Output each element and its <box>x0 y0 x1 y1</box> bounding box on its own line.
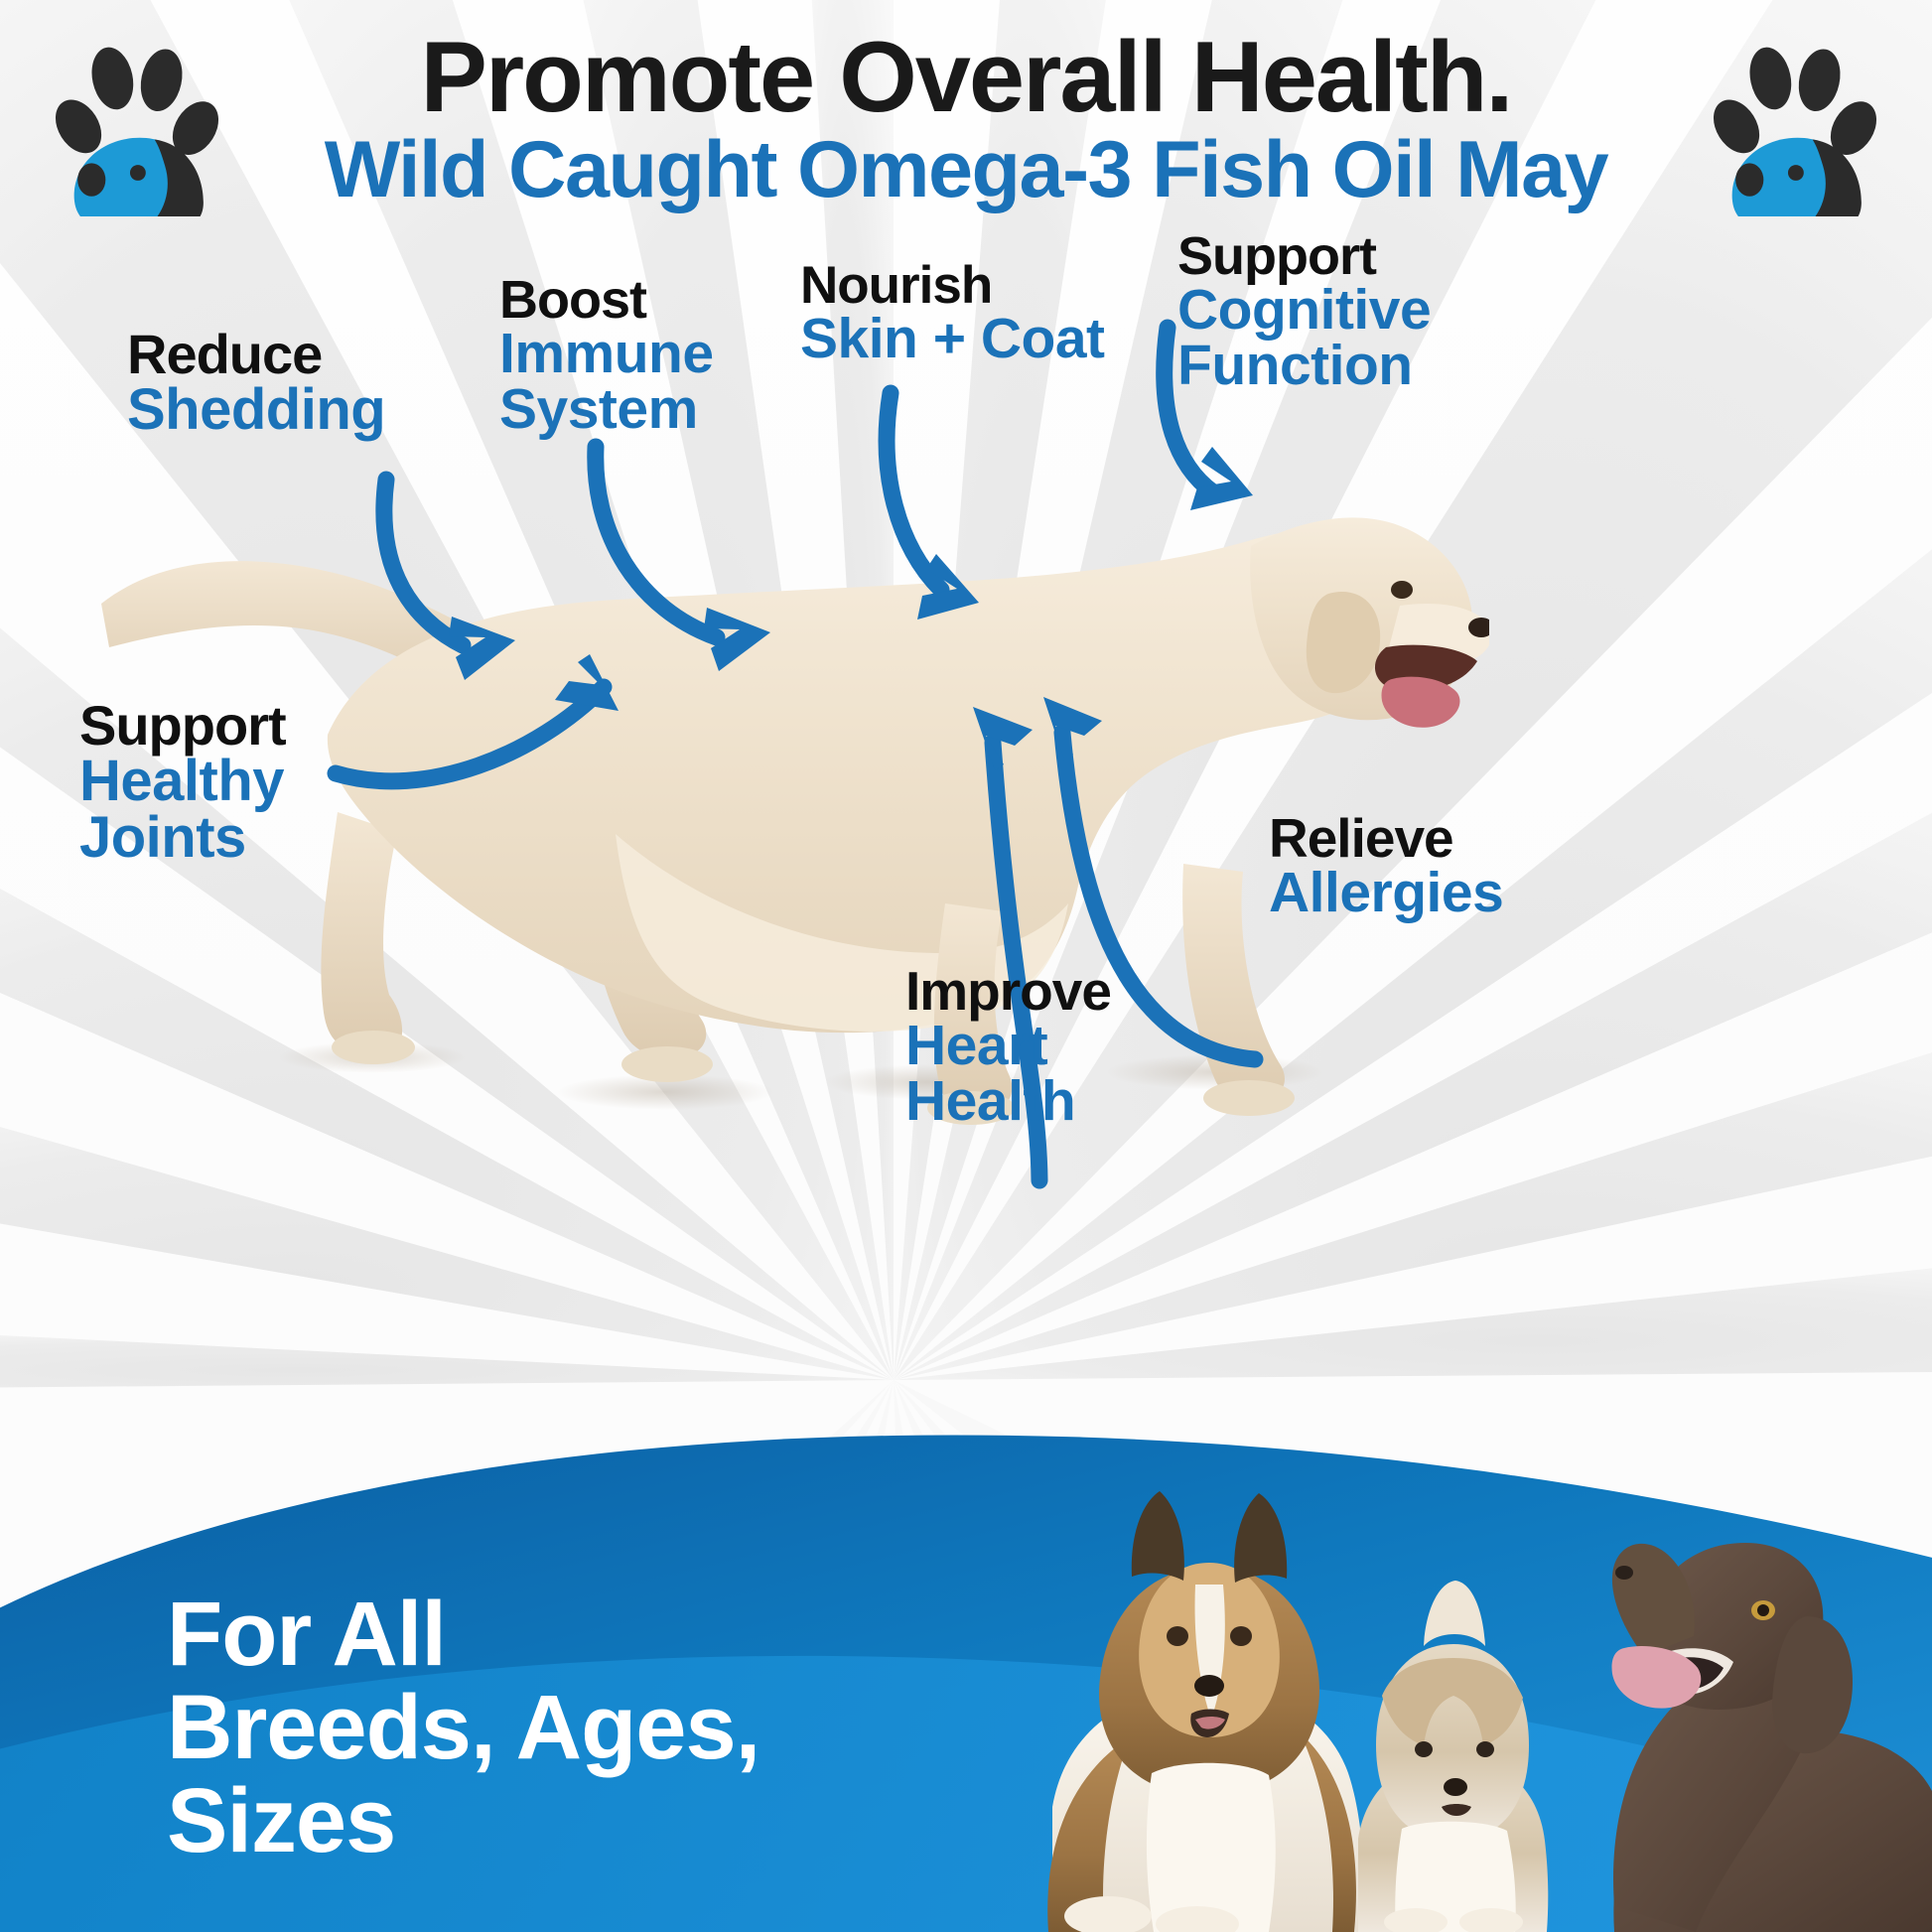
callout-value: Skin + Coat <box>800 312 1105 367</box>
bottom-banner-line3: Sizes <box>167 1775 759 1868</box>
callout-value-line1: Cognitive <box>1177 283 1431 339</box>
bottom-banner-line1: For All <box>167 1588 759 1682</box>
callout-value-line1: Heart <box>905 1019 1111 1074</box>
callout-relieve-allergies: Relieve Allergies <box>1269 812 1503 921</box>
callout-value-line2: Joints <box>79 810 286 867</box>
callout-support-cognitive-function: Support Cognitive Function <box>1177 230 1431 394</box>
callout-value-line2: Health <box>905 1074 1111 1130</box>
shihtzu-dog <box>1358 1581 1548 1932</box>
callout-support-healthy-joints: Support Healthy Joints <box>79 699 286 867</box>
header: Promote Overall Health. Wild Caught Omeg… <box>0 30 1932 228</box>
header-text-block: Promote Overall Health. Wild Caught Omeg… <box>325 30 1607 209</box>
infographic-canvas: Promote Overall Health. Wild Caught Omeg… <box>0 0 1932 1932</box>
callout-key: Nourish <box>800 260 1105 312</box>
pointer-dog <box>1612 1543 1932 1932</box>
callout-value-line2: Function <box>1177 339 1431 394</box>
callout-value-line1: Immune <box>499 327 714 382</box>
page-subtitle: Wild Caught Omega-3 Fish Oil May <box>325 132 1607 209</box>
three-dogs-photo <box>1013 1380 1932 1932</box>
callout-improve-heart-health: Improve Heart Health <box>905 965 1111 1130</box>
callout-value: Shedding <box>127 382 385 439</box>
bottom-banner-headline: For All Breeds, Ages, Sizes <box>167 1588 759 1867</box>
callout-value: Allergies <box>1269 866 1503 921</box>
page-title: Promote Overall Health. <box>420 30 1511 126</box>
callout-boost-immune-system: Boost Immune System <box>499 274 714 438</box>
callout-key: Support <box>79 699 286 754</box>
sheltie-dog <box>1047 1491 1363 1932</box>
callout-nourish-skin-coat: Nourish Skin + Coat <box>800 260 1105 367</box>
bottom-banner-line2: Breeds, Ages, <box>167 1682 759 1775</box>
callout-key: Boost <box>499 274 714 327</box>
callout-reduce-shedding: Reduce Shedding <box>127 328 385 439</box>
callout-key: Reduce <box>127 328 385 382</box>
callout-value-line1: Healthy <box>79 754 286 810</box>
callout-key: Support <box>1177 230 1431 283</box>
callout-value-line2: System <box>499 382 714 438</box>
callout-key: Improve <box>905 965 1111 1019</box>
callout-key: Relieve <box>1269 812 1503 866</box>
